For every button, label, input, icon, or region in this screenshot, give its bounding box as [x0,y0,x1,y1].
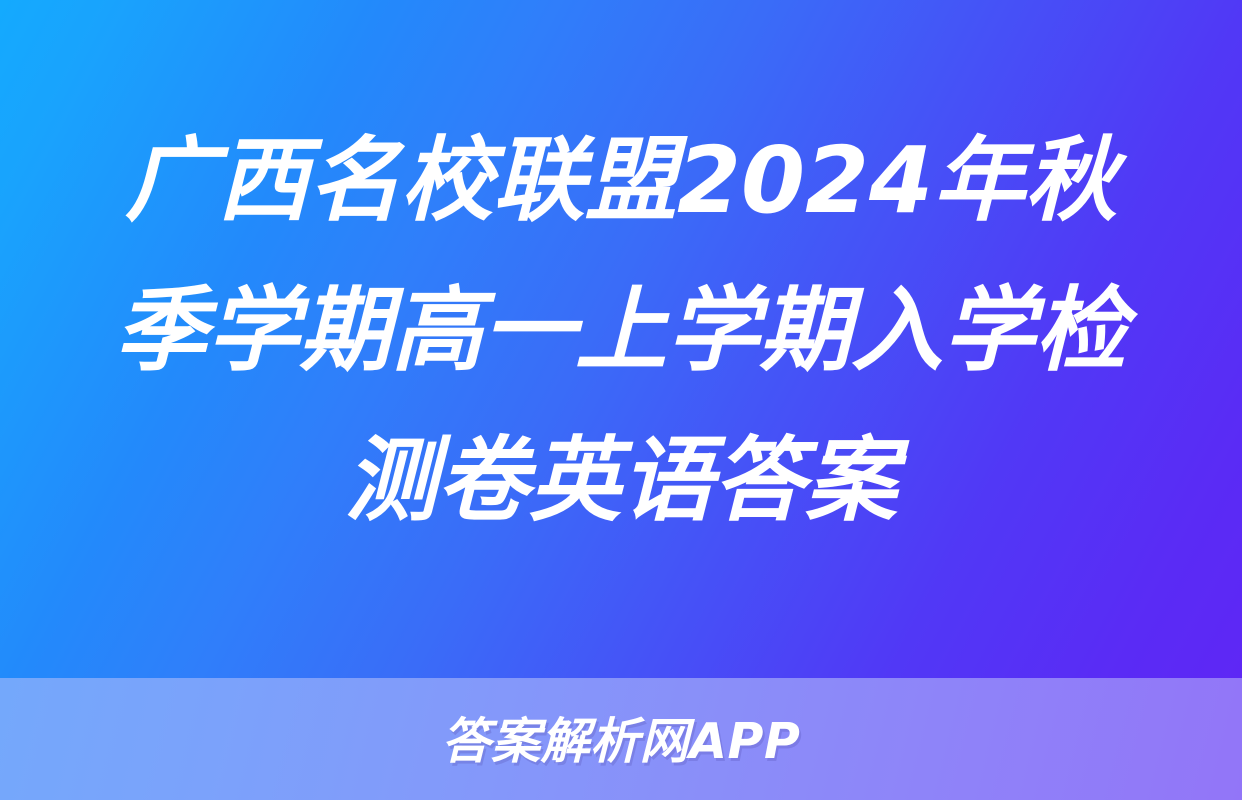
poster-container: 广西名校联盟2024年秋季学期高一上学期入学检测卷英语答案 答案解析网APP [0,0,1242,800]
hero-banner: 广西名校联盟2024年秋季学期高一上学期入学检测卷英语答案 [0,0,1242,678]
footer-watermark-bar: 答案解析网APP [0,678,1242,800]
app-watermark-label: 答案解析网APP [442,717,801,766]
page-title: 广西名校联盟2024年秋季学期高一上学期入学检测卷英语答案 [91,106,1151,556]
